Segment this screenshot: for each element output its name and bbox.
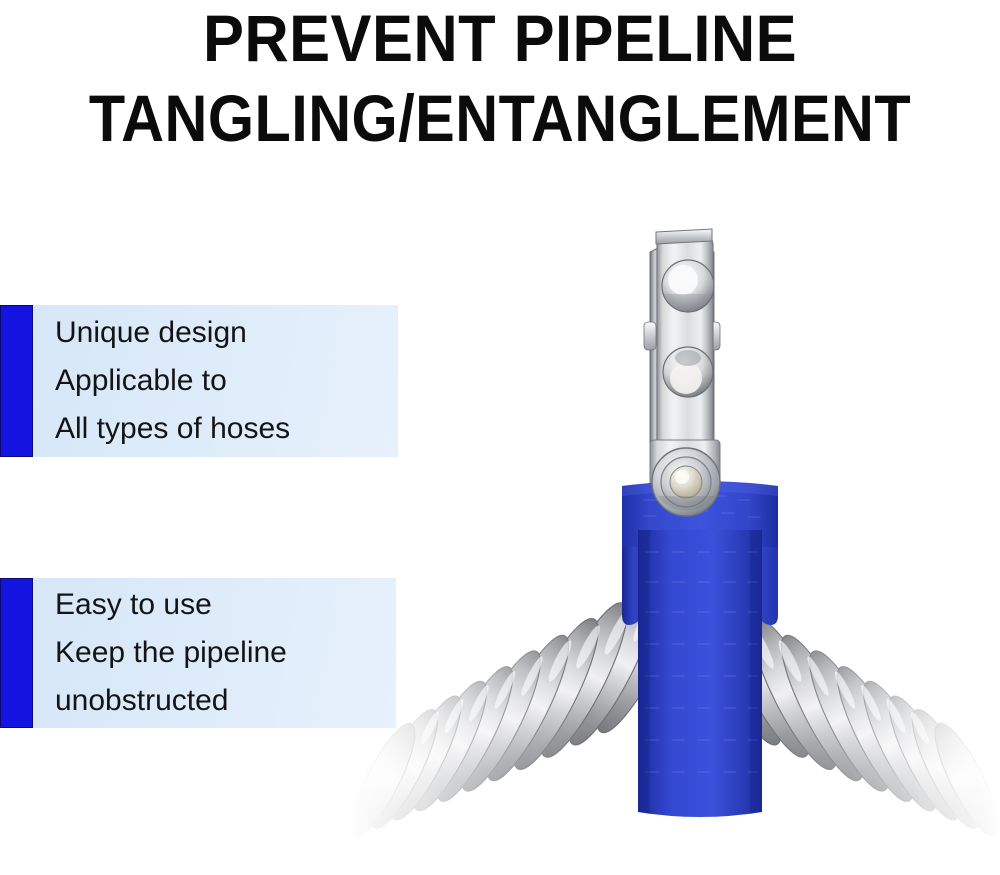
title-line-2: TANGLING/ENTANGLEMENT	[50, 71, 950, 151]
page-title: PREVENT PIPELINE TANGLING/ENTANGLEMENT	[0, 0, 1000, 151]
callout-line: Applicable to	[55, 357, 398, 405]
callout-line: All types of hoses	[55, 405, 398, 453]
callout-line: Keep the pipeline	[55, 629, 396, 677]
callout-unique-design: Unique design Applicable to All types of…	[0, 305, 398, 457]
product-feature-image: PREVENT PIPELINE TANGLING/ENTANGLEMENT	[0, 0, 1000, 875]
callout-line: unobstructed	[55, 677, 396, 725]
metal-snap-button	[652, 448, 720, 516]
callout-line: Unique design	[55, 309, 398, 357]
callout-accent-bar	[0, 305, 33, 457]
callout-accent-bar	[0, 578, 33, 728]
product-photo	[350, 200, 1000, 875]
callout-line: Easy to use	[55, 581, 396, 629]
callout-panel: Easy to use Keep the pipeline unobstruct…	[33, 578, 396, 728]
blue-velcro-strap	[622, 481, 778, 817]
title-line-1: PREVENT PIPELINE	[35, 0, 965, 71]
callout-panel: Unique design Applicable to All types of…	[33, 305, 398, 457]
callout-easy-to-use: Easy to use Keep the pipeline unobstruct…	[0, 578, 396, 728]
